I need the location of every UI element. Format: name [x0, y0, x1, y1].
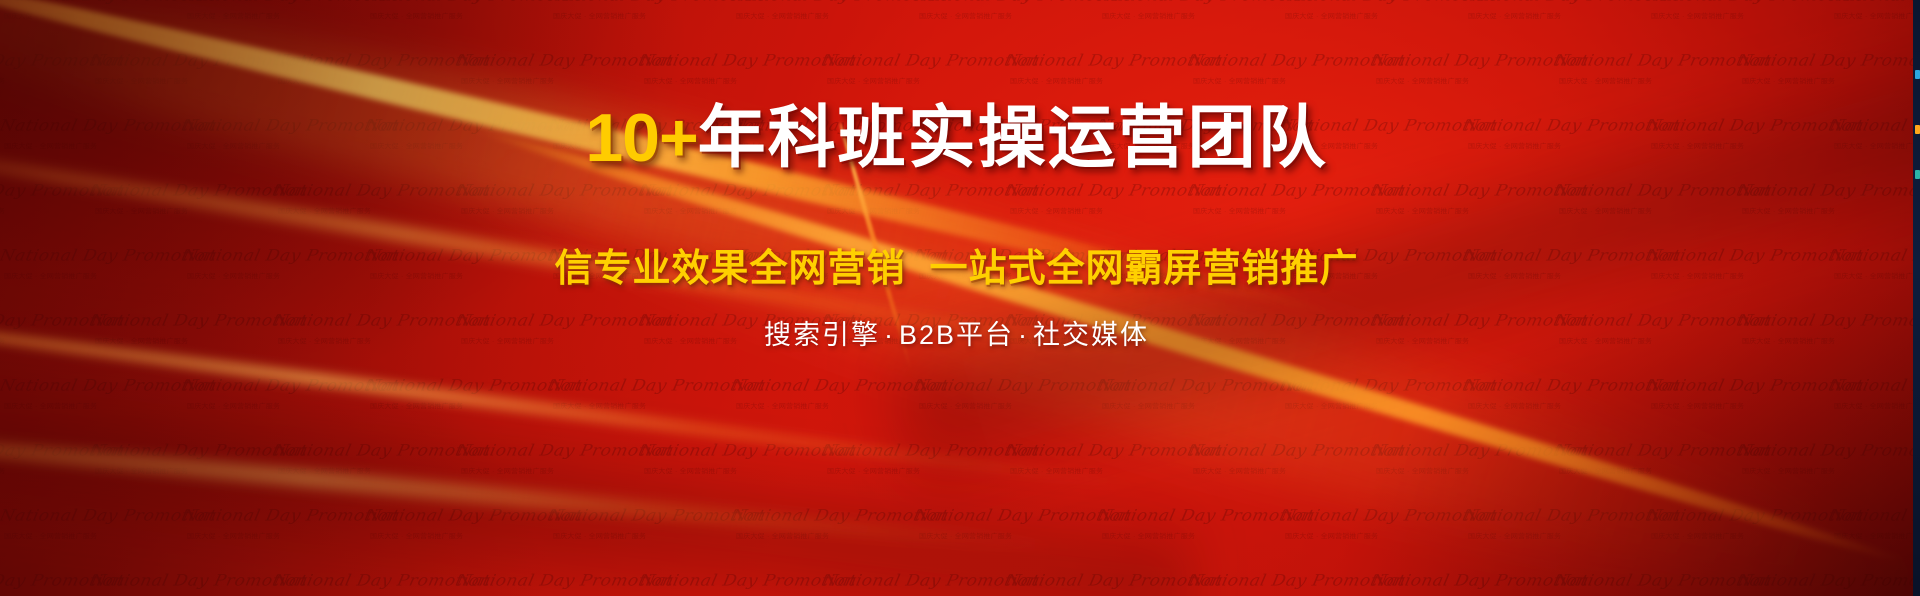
- watermark-script-text: National Day Promotion: [913, 0, 1100, 5]
- watermark-script-text: National Day Promotion: [638, 182, 825, 200]
- watermark-sub-text: 国庆大促 · 全网营销推广服务: [736, 532, 915, 541]
- watermark-tile: National Day Promotion国庆大促 · 全网营销推广服务: [0, 500, 183, 596]
- watermark-tile: National Day Promotion国庆大促 · 全网营销推广服务: [915, 0, 1098, 110]
- watermark-script-text: National Day Promotion: [272, 52, 459, 70]
- watermark-script-text: National Day Promotion: [1370, 572, 1557, 590]
- watermark-script-text: National Day Promotion: [89, 572, 276, 590]
- banner-tagline: 搜索引擎·B2B平台·社交媒体: [0, 322, 1913, 349]
- watermark-tile: National Day Promotion国庆大促 · 全网营销推广服务: [91, 435, 274, 565]
- watermark-sub-text: 国庆大促 · 全网营销推广服务: [919, 402, 1098, 411]
- watermark-script-text: National Day Promotion: [0, 182, 93, 200]
- watermark-script-text: National Day Promotion: [730, 0, 917, 5]
- watermark-sub-text: 国庆大促 · 全网营销推广服务: [370, 532, 549, 541]
- watermark-tile: National Day Promotion国庆大促 · 全网营销推广服务: [1098, 500, 1281, 596]
- watermark-script-text: National Day Promotion: [1004, 52, 1191, 70]
- watermark-sub-text: 国庆大促 · 全网营销推广服务: [370, 402, 549, 411]
- watermark-sub-text: 国庆大促 · 全网营销推广服务: [1193, 77, 1372, 86]
- watermark-tile: National Day Promotion国庆大促 · 全网营销推广服务: [1372, 435, 1555, 565]
- watermark-script-text: National Day Promotion: [1736, 442, 1913, 460]
- watermark-script-text: National Day Promotion: [0, 52, 93, 70]
- watermark-script-text: National Day Promotion: [913, 377, 1100, 395]
- watermark-tile: National Day Promotion国庆大促 · 全网营销推广服务: [183, 500, 366, 596]
- watermark-sub-text: 国庆大促 · 全网营销推广服务: [461, 77, 640, 86]
- promo-banner-slide[interactable]: National Day Promotion国庆大促 · 全网营销推广服务Nat…: [0, 0, 1913, 596]
- watermark-tile: National Day Promotion国庆大促 · 全网营销推广服务: [823, 565, 1006, 596]
- watermark-sub-text: 国庆大促 · 全网营销推广服务: [1651, 532, 1830, 541]
- watermark-tile: National Day Promotion国庆大促 · 全网营销推广服务: [1372, 565, 1555, 596]
- tagline-separator-one: ·: [880, 320, 899, 350]
- watermark-sub-text: 国庆大促 · 全网营销推广服务: [827, 207, 1006, 216]
- watermark-script-text: National Day Promotion: [1645, 507, 1832, 525]
- watermark-tile: National Day Promotion国庆大促 · 全网营销推广服务: [457, 565, 640, 596]
- watermark-tile: National Day Promotion国庆大促 · 全网营销推广服务: [91, 565, 274, 596]
- watermark-script-text: National Day Promotion: [1462, 507, 1649, 525]
- watermark-script-text: National Day Promotion: [1187, 182, 1374, 200]
- watermark-sub-text: 国庆大促 · 全网营销推广服务: [187, 532, 366, 541]
- watermark-sub-text: 国庆大促 · 全网营销推广服务: [187, 12, 366, 21]
- watermark-tile: National Day Promotion国庆大促 · 全网营销推广服务: [1464, 370, 1647, 500]
- watermark-script-text: National Day Promotion: [1736, 572, 1913, 590]
- watermark-sub-text: 国庆大促 · 全网营销推广服务: [1285, 532, 1464, 541]
- watermark-sub-text: 国庆大促 · 全网营销推广服务: [370, 12, 549, 21]
- next-slide-edge[interactable]: [1913, 0, 1920, 596]
- watermark-sub-text: 国庆大促 · 全网营销推广服务: [1102, 532, 1281, 541]
- watermark-tile: National Day Promotion国庆大促 · 全网营销推广服务: [732, 500, 915, 596]
- watermark-sub-text: 国庆大促 · 全网营销推广服务: [1559, 207, 1738, 216]
- watermark-tile: National Day Promotion国庆大促 · 全网营销推广服务: [1830, 0, 1913, 110]
- watermark-tile: National Day Promotion国庆大促 · 全网营销推广服务: [732, 0, 915, 110]
- tagline-item-b2b-platform: B2B平台: [899, 320, 1014, 350]
- watermark-sub-text: 国庆大促 · 全网营销推广服务: [553, 532, 732, 541]
- watermark-sub-text: 国庆大促 · 全网营销推广服务: [1468, 532, 1647, 541]
- watermark-script-text: National Day Promotion: [1004, 572, 1191, 590]
- watermark-script-text: National Day Promotion: [1187, 572, 1374, 590]
- watermark-script-text: National Day Promotion: [89, 182, 276, 200]
- watermark-sub-text: 国庆大促 · 全网营销推广服务: [1834, 532, 1913, 541]
- watermark-sub-text: 国庆大促 · 全网营销推广服务: [919, 12, 1098, 21]
- watermark-script-text: National Day Promotion: [1096, 507, 1283, 525]
- watermark-sub-text: 国庆大促 · 全网营销推广服务: [4, 12, 183, 21]
- watermark-script-text: National Day Promotion: [272, 182, 459, 200]
- watermark-script-text: National Day Promotion: [1187, 442, 1374, 460]
- watermark-script-text: National Day Promotion: [1828, 507, 1913, 525]
- shadow-band-left: [0, 331, 1200, 596]
- watermark-script-text: National Day Promotion: [730, 377, 917, 395]
- watermark-sub-text: 国庆大促 · 全网营销推广服务: [644, 77, 823, 86]
- watermark-sub-text: 国庆大促 · 全网营销推广服务: [1376, 207, 1555, 216]
- watermark-sub-text: 国庆大促 · 全网营销推广服务: [1010, 467, 1189, 476]
- watermark-tile: National Day Promotion国庆大促 · 全网营销推广服务: [1006, 435, 1189, 565]
- watermark-script-text: National Day Promotion: [272, 572, 459, 590]
- banner-carousel: National Day Promotion国庆大促 · 全网营销推广服务Nat…: [0, 0, 1920, 596]
- watermark-tile: National Day Promotion国庆大促 · 全网营销推广服务: [1647, 0, 1830, 110]
- watermark-script-text: National Day Promotion: [1187, 52, 1374, 70]
- watermark-script-text: National Day Promotion: [181, 507, 368, 525]
- watermark-script-text: National Day Promotion: [455, 442, 642, 460]
- watermark-tile: National Day Promotion国庆大促 · 全网营销推广服务: [457, 435, 640, 565]
- watermark-sub-text: 国庆大促 · 全网营销推广服务: [827, 77, 1006, 86]
- watermark-script-text: National Day Promotion: [1645, 377, 1832, 395]
- watermark-tile: National Day Promotion国庆大促 · 全网营销推广服务: [1189, 565, 1372, 596]
- watermark-tile: National Day Promotion国庆大促 · 全网营销推广服务: [1098, 370, 1281, 500]
- watermark-sub-text: 国庆大促 · 全网营销推广服务: [0, 207, 91, 216]
- watermark-script-text: National Day Promotion: [364, 507, 551, 525]
- watermark-tile: National Day Promotion国庆大促 · 全网营销推广服务: [366, 500, 549, 596]
- watermark-sub-text: 国庆大促 · 全网营销推广服务: [1468, 12, 1647, 21]
- headline-text: 年科班实操运营团队: [698, 100, 1328, 176]
- watermark-script-text: National Day Promotion: [1828, 0, 1913, 5]
- watermark-sub-text: 国庆大促 · 全网营销推广服务: [95, 467, 274, 476]
- subline-part-one: 信专业效果全网营销: [554, 248, 905, 290]
- watermark-script-text: National Day Promotion: [913, 507, 1100, 525]
- watermark-script-text: National Day Promotion: [1553, 52, 1740, 70]
- watermark-tile: National Day Promotion国庆大促 · 全网营销推广服务: [1555, 565, 1738, 596]
- light-rays-decoration: [0, 0, 1913, 596]
- tagline-item-search-engine: 搜索引擎: [764, 320, 880, 350]
- watermark-sub-text: 国庆大促 · 全网营销推广服务: [1742, 207, 1913, 216]
- watermark-sub-text: 国庆大促 · 全网营销推广服务: [1285, 12, 1464, 21]
- watermark-tile: National Day Promotion国庆大促 · 全网营销推广服务: [549, 500, 732, 596]
- tagline-item-social-media: 社交媒体: [1033, 320, 1149, 350]
- watermark-tile: National Day Promotion国庆大促 · 全网营销推广服务: [183, 370, 366, 500]
- watermark-sub-text: 国庆大促 · 全网营销推广服务: [1376, 77, 1555, 86]
- watermark-tile: National Day Promotion国庆大促 · 全网营销推广服务: [823, 435, 1006, 565]
- vignette-overlay: [0, 0, 1913, 596]
- watermark-sub-text: 国庆大促 · 全网营销推广服务: [1102, 402, 1281, 411]
- watermark-sub-text: 国庆大促 · 全网营销推广服务: [1010, 77, 1189, 86]
- watermark-tile: National Day Promotion国庆大促 · 全网营销推广服务: [1098, 0, 1281, 110]
- watermark-tile: National Day Promotion国庆大促 · 全网营销推广服务: [915, 370, 1098, 500]
- watermark-tile: National Day Promotion国庆大促 · 全网营销推广服务: [1830, 500, 1913, 596]
- watermark-tile: National Day Promotion国庆大促 · 全网营销推广服务: [0, 435, 91, 565]
- watermark-tile: National Day Promotion国庆大促 · 全网营销推广服务: [1281, 500, 1464, 596]
- watermark-script-text: National Day Promotion: [1004, 182, 1191, 200]
- watermark-tile: National Day Promotion国庆大促 · 全网营销推广服务: [1189, 435, 1372, 565]
- watermark-tile: National Day Promotion国庆大促 · 全网营销推广服务: [274, 435, 457, 565]
- watermark-tile: National Day Promotion国庆大促 · 全网营销推广服务: [1830, 370, 1913, 500]
- watermark-script-text: National Day Promotion: [821, 182, 1008, 200]
- watermark-script-text: National Day Promotion: [1462, 0, 1649, 5]
- watermark-sub-text: 国庆大促 · 全网营销推广服务: [4, 402, 183, 411]
- watermark-tile: National Day Promotion国庆大促 · 全网营销推广服务: [1555, 435, 1738, 565]
- watermark-script-text: National Day Promotion: [0, 442, 93, 460]
- watermark-script-text: National Day Promotion: [1004, 442, 1191, 460]
- watermark-tile: National Day Promotion国庆大促 · 全网营销推广服务: [366, 370, 549, 500]
- watermark-sub-text: 国庆大促 · 全网营销推广服务: [1102, 12, 1281, 21]
- watermark-sub-text: 国庆大促 · 全网营销推广服务: [278, 207, 457, 216]
- watermark-sub-text: 国庆大促 · 全网营销推广服务: [644, 207, 823, 216]
- watermark-script-text: National Day Promotion: [364, 377, 551, 395]
- watermark-sub-text: 国庆大促 · 全网营销推广服务: [1468, 402, 1647, 411]
- watermark-script-text: National Day Promotion: [1096, 0, 1283, 5]
- watermark-script-text: National Day Promotion: [547, 0, 734, 5]
- watermark-script-text: National Day Promotion: [821, 442, 1008, 460]
- watermark-script-text: National Day Promotion: [1279, 507, 1466, 525]
- watermark-tile: National Day Promotion国庆大促 · 全网营销推广服务: [1647, 370, 1830, 500]
- watermark-sub-text: 国庆大促 · 全网营销推广服务: [461, 467, 640, 476]
- subline-part-two: 一站式全网霸屏营销推广: [930, 248, 1359, 290]
- watermark-tile: National Day Promotion国庆大促 · 全网营销推广服务: [1464, 500, 1647, 596]
- watermark-sub-text: 国庆大促 · 全网营销推广服务: [1559, 467, 1738, 476]
- watermark-script-text: National Day Promotion: [1553, 182, 1740, 200]
- watermark-tile: National Day Promotion国庆大促 · 全网营销推广服务: [915, 500, 1098, 596]
- edge-accent-dot-orange: [1915, 125, 1920, 134]
- watermark-script-text: National Day Promotion: [1736, 182, 1913, 200]
- watermark-sub-text: 国庆大促 · 全网营销推广服务: [1193, 207, 1372, 216]
- watermark-tile: National Day Promotion国庆大促 · 全网营销推广服务: [366, 0, 549, 110]
- watermark-script-text: National Day Promotion: [0, 572, 93, 590]
- watermark-sub-text: 国庆大促 · 全网营销推广服务: [644, 467, 823, 476]
- watermark-sub-text: 国庆大促 · 全网营销推广服务: [278, 77, 457, 86]
- watermark-script-text: National Day Promotion: [455, 52, 642, 70]
- watermark-script-text: National Day Promotion: [1828, 377, 1913, 395]
- watermark-sub-text: 国庆大促 · 全网营销推广服务: [1742, 77, 1913, 86]
- watermark-sub-text: 国庆大促 · 全网营销推广服务: [1742, 467, 1913, 476]
- watermark-tile: National Day Promotion国庆大促 · 全网营销推广服务: [0, 565, 91, 596]
- watermark-script-text: National Day Promotion: [0, 377, 185, 395]
- watermark-sub-text: 国庆大促 · 全网营销推广服务: [736, 402, 915, 411]
- watermark-script-text: National Day Promotion: [638, 572, 825, 590]
- watermark-sub-text: 国庆大促 · 全网营销推广服务: [461, 207, 640, 216]
- watermark-tile: National Day Promotion国庆大促 · 全网营销推广服务: [183, 0, 366, 110]
- watermark-script-text: National Day Promotion: [1370, 52, 1557, 70]
- watermark-sub-text: 国庆大促 · 全网营销推广服务: [1834, 402, 1913, 411]
- watermark-sub-text: 国庆大促 · 全网营销推广服务: [1193, 467, 1372, 476]
- watermark-tile: National Day Promotion国庆大促 · 全网营销推广服务: [640, 435, 823, 565]
- watermark-script-text: National Day Promotion: [0, 507, 185, 525]
- edge-accent-dot-teal: [1915, 170, 1920, 179]
- watermark-tile: National Day Promotion国庆大促 · 全网营销推广服务: [640, 565, 823, 596]
- watermark-tile: National Day Promotion国庆大促 · 全网营销推广服务: [274, 565, 457, 596]
- watermark-sub-text: 国庆大促 · 全网营销推广服务: [827, 467, 1006, 476]
- watermark-sub-text: 国庆大促 · 全网营销推广服务: [1010, 207, 1189, 216]
- watermark-tile: National Day Promotion国庆大促 · 全网营销推广服务: [1738, 435, 1913, 565]
- watermark-sub-text: 国庆大促 · 全网营销推广服务: [1651, 402, 1830, 411]
- watermark-tile: National Day Promotion国庆大促 · 全网营销推广服务: [1281, 370, 1464, 500]
- watermark-sub-text: 国庆大促 · 全网营销推广服务: [95, 77, 274, 86]
- watermark-sub-text: 国庆大促 · 全网营销推广服务: [0, 77, 91, 86]
- watermark-script-text: National Day Promotion: [1553, 442, 1740, 460]
- watermark-script-text: National Day Promotion: [364, 0, 551, 5]
- watermark-sub-text: 国庆大促 · 全网营销推广服务: [1376, 467, 1555, 476]
- watermark-script-text: National Day Promotion: [1279, 0, 1466, 5]
- watermark-layer: National Day Promotion国庆大促 · 全网营销推广服务Nat…: [0, 0, 1913, 596]
- watermark-script-text: National Day Promotion: [821, 572, 1008, 590]
- watermark-tile: National Day Promotion国庆大促 · 全网营销推广服务: [549, 370, 732, 500]
- watermark-sub-text: 国庆大促 · 全网营销推广服务: [1834, 12, 1913, 21]
- watermark-script-text: National Day Promotion: [638, 442, 825, 460]
- watermark-tile: National Day Promotion国庆大促 · 全网营销推广服务: [1464, 0, 1647, 110]
- watermark-tile: National Day Promotion国庆大促 · 全网营销推广服务: [1647, 500, 1830, 596]
- watermark-script-text: National Day Promotion: [821, 52, 1008, 70]
- watermark-script-text: National Day Promotion: [1096, 377, 1283, 395]
- watermark-script-text: National Day Promotion: [1736, 52, 1913, 70]
- watermark-sub-text: 国庆大促 · 全网营销推广服务: [1559, 77, 1738, 86]
- watermark-script-text: National Day Promotion: [455, 572, 642, 590]
- watermark-sub-text: 国庆大促 · 全网营销推广服务: [95, 207, 274, 216]
- watermark-script-text: National Day Promotion: [638, 52, 825, 70]
- watermark-sub-text: 国庆大促 · 全网营销推广服务: [1285, 402, 1464, 411]
- watermark-sub-text: 国庆大促 · 全网营销推广服务: [553, 12, 732, 21]
- watermark-script-text: National Day Promotion: [181, 0, 368, 5]
- watermark-script-text: National Day Promotion: [547, 507, 734, 525]
- watermark-script-text: National Day Promotion: [89, 52, 276, 70]
- watermark-script-text: National Day Promotion: [455, 182, 642, 200]
- watermark-script-text: National Day Promotion: [0, 0, 185, 5]
- tagline-separator-two: ·: [1014, 320, 1033, 350]
- watermark-sub-text: 国庆大促 · 全网营销推广服务: [187, 402, 366, 411]
- watermark-tile: National Day Promotion国庆大促 · 全网营销推广服务: [0, 370, 183, 500]
- watermark-tile: National Day Promotion国庆大促 · 全网营销推广服务: [1281, 0, 1464, 110]
- watermark-script-text: National Day Promotion: [1279, 377, 1466, 395]
- watermark-script-text: National Day Promotion: [1370, 182, 1557, 200]
- watermark-sub-text: 国庆大促 · 全网营销推广服务: [553, 402, 732, 411]
- banner-copy: 10+年科班实操运营团队 信专业效果全网营销一站式全网霸屏营销推广 搜索引擎·B…: [0, 0, 1913, 596]
- watermark-script-text: National Day Promotion: [1553, 572, 1740, 590]
- edge-accent-dot-blue: [1915, 70, 1920, 79]
- watermark-tile: National Day Promotion国庆大促 · 全网营销推广服务: [1738, 565, 1913, 596]
- watermark-script-text: National Day Promotion: [272, 442, 459, 460]
- watermark-sub-text: 国庆大促 · 全网营销推广服务: [736, 12, 915, 21]
- banner-subline: 信专业效果全网营销一站式全网霸屏营销推广: [0, 250, 1913, 288]
- watermark-script-text: National Day Promotion: [547, 377, 734, 395]
- watermark-sub-text: 国庆大促 · 全网营销推广服务: [0, 467, 91, 476]
- watermark-tile: National Day Promotion国庆大促 · 全网营销推广服务: [0, 0, 183, 110]
- watermark-script-text: National Day Promotion: [730, 507, 917, 525]
- watermark-script-text: National Day Promotion: [89, 442, 276, 460]
- watermark-script-text: National Day Promotion: [1645, 0, 1832, 5]
- watermark-tile: National Day Promotion国庆大促 · 全网营销推广服务: [732, 370, 915, 500]
- watermark-sub-text: 国庆大促 · 全网营销推广服务: [1651, 12, 1830, 21]
- headline-number: 10+: [585, 100, 697, 176]
- banner-headline: 10+年科班实操运营团队: [0, 104, 1913, 172]
- watermark-script-text: National Day Promotion: [1370, 442, 1557, 460]
- watermark-sub-text: 国庆大促 · 全网营销推广服务: [4, 532, 183, 541]
- watermark-script-text: National Day Promotion: [181, 377, 368, 395]
- watermark-tile: National Day Promotion国庆大促 · 全网营销推广服务: [1006, 565, 1189, 596]
- watermark-script-text: National Day Promotion: [1462, 377, 1649, 395]
- watermark-tile: National Day Promotion国庆大促 · 全网营销推广服务: [549, 0, 732, 110]
- watermark-sub-text: 国庆大促 · 全网营销推广服务: [278, 467, 457, 476]
- watermark-sub-text: 国庆大促 · 全网营销推广服务: [919, 532, 1098, 541]
